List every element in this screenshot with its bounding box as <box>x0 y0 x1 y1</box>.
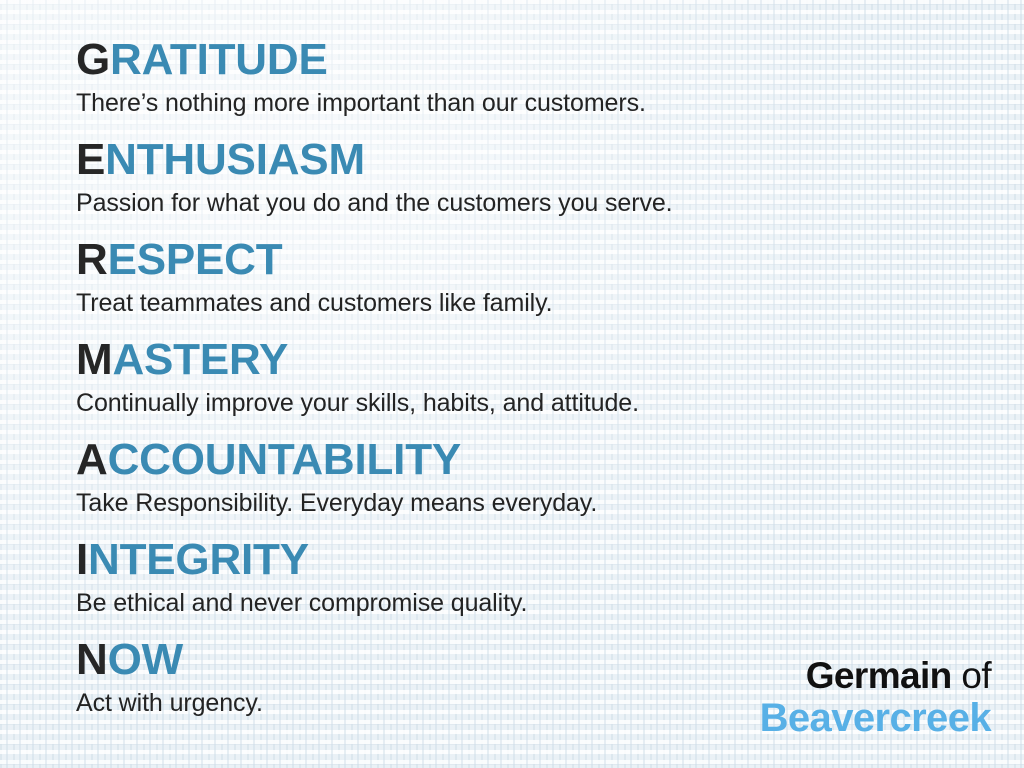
logo-location: Beavercreek <box>760 696 991 740</box>
value-description-integrity: Be ethical and never compromise quality. <box>76 588 527 618</box>
logo-connector: of <box>952 655 991 696</box>
value-block-enthusiasm: ENTHUSIASM Passion for what you do and t… <box>76 138 673 218</box>
value-description-accountability: Take Responsibility. Everyday means ever… <box>76 488 597 518</box>
value-initial: E <box>76 135 105 184</box>
value-description-respect: Treat teammates and customers like famil… <box>76 288 553 318</box>
value-remainder: NTHUSIASM <box>105 135 365 184</box>
value-remainder: ESPECT <box>108 235 283 284</box>
value-word-gratitude: GRATITUDE <box>76 38 646 82</box>
value-description-gratitude: There’s nothing more important than our … <box>76 88 646 118</box>
logo-brand-name: Germain <box>806 655 952 696</box>
value-description-now: Act with urgency. <box>76 688 263 718</box>
value-initial: G <box>76 35 110 84</box>
value-remainder: ASTERY <box>112 335 288 384</box>
value-description-mastery: Continually improve your skills, habits,… <box>76 388 639 418</box>
value-block-integrity: INTEGRITY Be ethical and never compromis… <box>76 538 527 618</box>
value-description-enthusiasm: Passion for what you do and the customer… <box>76 188 673 218</box>
value-initial: N <box>76 635 108 684</box>
value-initial: I <box>76 535 88 584</box>
value-block-now: NOW Act with urgency. <box>76 638 263 718</box>
value-word-now: NOW <box>76 638 263 682</box>
value-word-respect: RESPECT <box>76 238 553 282</box>
company-logo: Germain of Beavercreek <box>760 656 991 740</box>
value-remainder: RATITUDE <box>110 35 328 84</box>
poster-content: GRATITUDE There’s nothing more important… <box>0 0 1024 768</box>
value-remainder: CCOUNTABILITY <box>108 435 461 484</box>
value-initial: R <box>76 235 108 284</box>
value-word-mastery: MASTERY <box>76 338 639 382</box>
value-word-enthusiasm: ENTHUSIASM <box>76 138 673 182</box>
value-initial: M <box>76 335 112 384</box>
value-initial: A <box>76 435 108 484</box>
value-remainder: NTEGRITY <box>88 535 309 584</box>
value-word-integrity: INTEGRITY <box>76 538 527 582</box>
value-block-gratitude: GRATITUDE There’s nothing more important… <box>76 38 646 118</box>
value-block-mastery: MASTERY Continually improve your skills,… <box>76 338 639 418</box>
value-block-accountability: ACCOUNTABILITY Take Responsibility. Ever… <box>76 438 597 518</box>
logo-line-primary: Germain of <box>760 656 991 696</box>
value-word-accountability: ACCOUNTABILITY <box>76 438 597 482</box>
value-block-respect: RESPECT Treat teammates and customers li… <box>76 238 553 318</box>
value-remainder: OW <box>108 635 183 684</box>
